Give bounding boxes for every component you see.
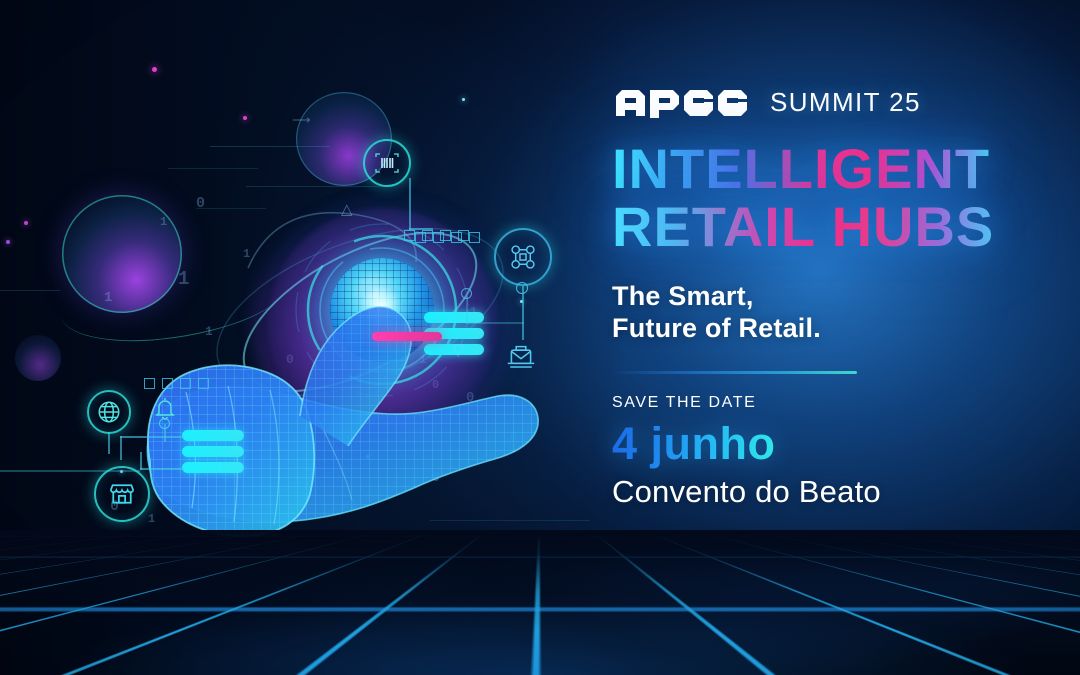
headline-line-2: RETAIL HUBS: [612, 200, 1052, 254]
square-marker-row: [144, 378, 209, 389]
connector-line: [140, 452, 142, 470]
summit-label: SUMMIT 25: [770, 89, 921, 118]
network-nodes-icon: [494, 228, 552, 286]
node-dot: [516, 282, 528, 294]
connector-line: [409, 178, 411, 230]
connector-line: [522, 286, 524, 340]
email-icon: [503, 338, 539, 377]
connector-line: [108, 432, 110, 454]
square-marker-row: [415, 232, 480, 243]
subheadline-line-2: Future of Retail.: [612, 312, 1052, 345]
section-divider: [612, 371, 857, 374]
magenta-accent-bar: [372, 332, 442, 341]
hero-artwork: [0, 0, 620, 620]
headline-line-1: INTELLIGENT: [612, 142, 1052, 196]
globe-icon: [87, 390, 131, 434]
subheadline-line-1: The Smart,: [612, 280, 1052, 313]
data-bar: [182, 430, 244, 441]
data-bar: [182, 446, 244, 457]
event-date: 4 junho: [612, 418, 775, 470]
connector-line: [120, 436, 184, 438]
perspective-grid-floor: [0, 535, 1080, 675]
connector-line: [140, 468, 184, 470]
node-dot: [159, 418, 170, 429]
data-bar: [182, 462, 244, 473]
brand-lockup: SUMMIT 25: [612, 84, 1052, 118]
node-dot: [461, 288, 472, 299]
connector-line: [466, 322, 524, 324]
barcode-scan-icon: [363, 139, 411, 187]
wireframe-hand: [0, 0, 620, 620]
event-venue: Convento do Beato: [612, 474, 1052, 510]
arrow-glyph: ⟶: [292, 112, 311, 128]
connector-line: [466, 296, 468, 324]
arrow-glyph: △: [341, 200, 353, 218]
poster-content: SUMMIT 25 INTELLIGENT RETAIL HUBS The Sm…: [612, 84, 1052, 510]
arrow-glyph: ▽: [452, 340, 464, 360]
event-poster: 0 1 1 1 1 1 0 0 0 0 1 0 0 1 0 1 0 0 1 0 …: [0, 0, 1080, 675]
headline-block: INTELLIGENT RETAIL HUBS: [612, 142, 1052, 254]
connector-line: [120, 436, 122, 460]
save-the-date-label: SAVE THE DATE: [612, 394, 1052, 412]
storefront-icon: [94, 466, 150, 522]
apcc-logo: [612, 84, 752, 118]
subheadline-block: The Smart, Future of Retail.: [612, 280, 1052, 346]
